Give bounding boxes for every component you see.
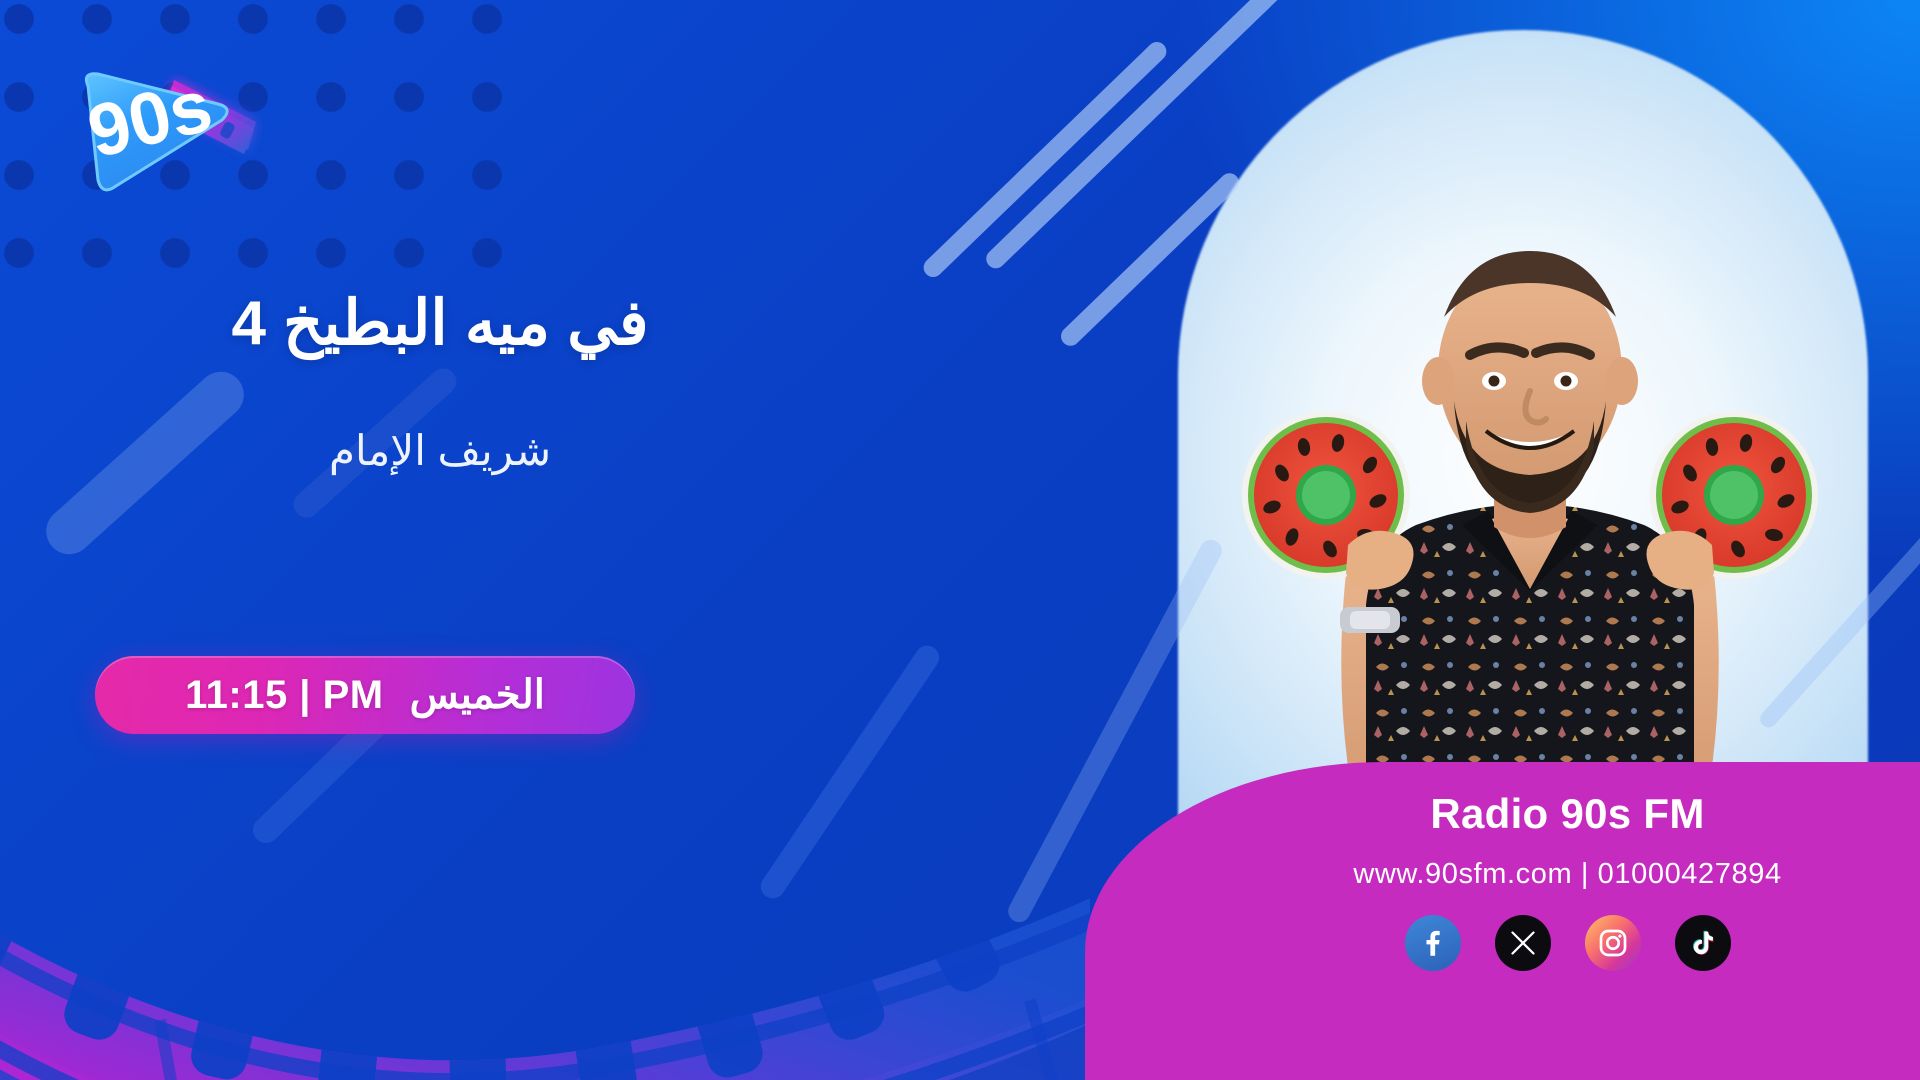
- facebook-icon[interactable]: [1405, 915, 1461, 971]
- film-strip-decoration: [0, 700, 1090, 1080]
- station-contact: www.90sfm.com | 01000427894: [1150, 858, 1920, 891]
- social-links: [1150, 915, 1920, 971]
- radio-90s-logo[interactable]: 90s: [42, 50, 262, 200]
- x-twitter-icon[interactable]: [1495, 915, 1551, 971]
- show-title: في ميه البطيخ 4: [0, 290, 880, 358]
- station-name: Radio 90s FM: [1150, 790, 1920, 838]
- schedule-time: 11:15 | PM: [185, 673, 384, 718]
- schedule-day: الخميس: [410, 672, 545, 718]
- diagonal-stripe-decoration: [920, 38, 1171, 281]
- show-host-name: شريف الإمام: [0, 428, 880, 474]
- station-footer: Radio 90s FM www.90sfm.com | 01000427894: [1085, 762, 1920, 1080]
- diagonal-stripe-decoration: [756, 641, 944, 903]
- tiktok-icon[interactable]: [1675, 915, 1731, 971]
- promo-banner: 90s: [0, 0, 1920, 1080]
- show-info: في ميه البطيخ 4 شريف الإمام: [0, 290, 880, 474]
- instagram-icon[interactable]: [1585, 915, 1641, 971]
- schedule-badge[interactable]: الخميس 11:15 | PM: [95, 656, 635, 734]
